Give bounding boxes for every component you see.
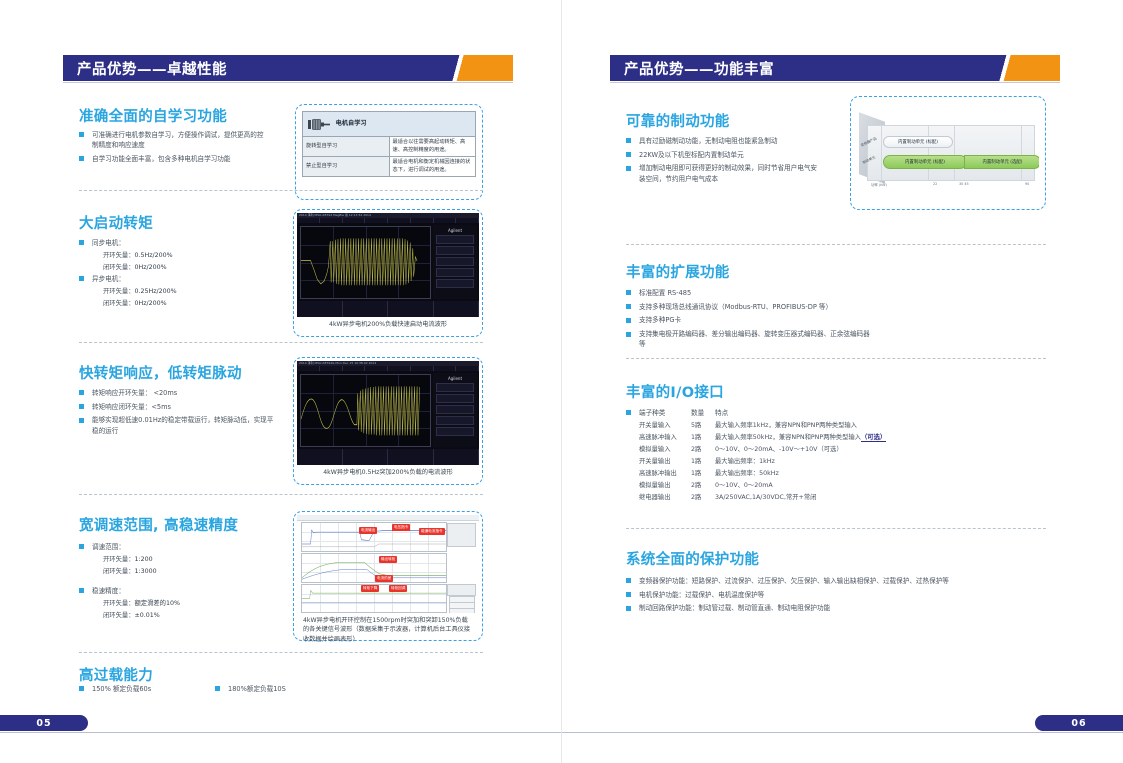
sub-label: 开环矢量：: [103, 252, 134, 259]
list-item: 支持集电极开路编码器、差分输出编码器、旋转变压器式编码器、正余弦编码器等: [626, 329, 876, 349]
table-row: 继电器输出2路3A/250VAC,1A/30VDC,常开+常闭: [639, 492, 969, 504]
figure-scope-2: 2014 泽利 MSO-X8794G Mon Dec 15 10:38:02 2…: [293, 357, 483, 485]
sub-async-open: 开环矢量：0.25Hz/200%: [79, 286, 177, 297]
sub-label: 开环矢量：: [103, 556, 134, 563]
scope-trace-2: [301, 375, 430, 446]
acq-button-3[interactable]: [449, 608, 475, 613]
brake-x-tick-22: 22: [933, 182, 937, 186]
figure-scope-1: 2014 泽利 MSO-X8794 MegBw 用 12:13:52 2014 …: [293, 209, 483, 337]
motor-row-value: 最适合以往需要高起动转矩、高速、高控制精度的用途。: [389, 137, 476, 157]
heading-io: 丰富的I/O接口: [626, 381, 724, 402]
left-banner: 产品优势——卓越性能: [63, 55, 513, 81]
scope-grid-2: [300, 374, 431, 447]
heading-torque-response: 快转矩响应，低转矩脉动: [79, 362, 242, 383]
right-banner-slash: [982, 55, 1028, 81]
io-type: 高速脉冲输入: [639, 432, 691, 444]
figure-brake-diagram: 变频器产品 制动单元 内置制动单元 (标配) 内置制动单元 (标配) 内置制动单…: [850, 96, 1046, 210]
left-banner-underline: [63, 82, 513, 83]
left-footer-line: [0, 732, 561, 733]
table-row: 模拟量输入2路0～10V、0～20mA、-10V～+10V（可选）: [639, 444, 969, 456]
io-col-qty: 数量: [691, 408, 715, 418]
bullets-overload-1: 150% 额定负载60s: [79, 684, 209, 698]
scope-side-panel-1: Agilent: [433, 225, 477, 299]
agilent-logo: Agilent: [433, 225, 477, 233]
acq-toolbar: [297, 515, 479, 521]
scope-side-panel-2: Agilent: [433, 373, 477, 447]
io-col-note: 特点: [715, 409, 728, 417]
motor-self-learning-table: 电机自学习 旋转型自学习 最适合以往需要高起动转矩、高速、高控制精度的用途。 禁…: [302, 111, 476, 177]
brake-x-label-power: 功率 (kW): [871, 182, 887, 187]
io-qty: 1路: [691, 468, 715, 480]
divider: [626, 358, 1046, 359]
divider: [79, 652, 483, 653]
io-qty: 1路: [691, 456, 715, 468]
scope-menubar: [297, 218, 479, 223]
scope-bottombar-1: [297, 301, 479, 317]
sub-value: 0Hz/200%: [134, 300, 166, 307]
scope-menubar: [297, 366, 479, 371]
divider: [79, 494, 483, 495]
oscilloscope-screen-2: 2014 泽利 MSO-X8794G Mon Dec 15 10:38:02 2…: [297, 361, 479, 465]
io-note: 0～10V、0～20mA、-10V～+10V（可选）: [715, 446, 843, 453]
agilent-logo: Agilent: [433, 373, 477, 381]
list-item: 电机保护功能：过载保护、电机温度保护等: [626, 590, 1026, 600]
divider: [79, 190, 483, 191]
right-banner-orange: [1028, 55, 1060, 81]
figure-acquisition-chart: 电流输出 电压指令 磁通电流指令 输出转矩 电流的差 转矩下降 转矩回调 4kW…: [293, 511, 483, 641]
list-item: 转矩响应开环矢量： <20ms: [79, 388, 274, 398]
list-item: 180%额定负载10S: [215, 684, 355, 694]
motor-table-header: 电机自学习: [303, 112, 476, 137]
io-note: 最大输出频率：1kHz: [715, 458, 775, 465]
io-type: 模拟量输出: [639, 480, 691, 492]
page-number-left: 05: [0, 715, 88, 731]
brake-bar-standard-small: 内置制动单元 (标配): [883, 136, 953, 148]
scope-trace-1: [301, 227, 430, 298]
io-note: 3A/250VAC,1A/30VDC,常开+常闭: [715, 494, 816, 501]
heading-expansion: 丰富的扩展功能: [626, 261, 730, 282]
table-row: 开关量输入5路最大输入频率1kHz，兼容NPN和PNP两种类型输入: [639, 420, 969, 432]
sub-label: 闭环矢量：: [103, 612, 134, 619]
scope-bottombar-2: [297, 449, 479, 465]
page-number-right: 06: [1035, 715, 1123, 731]
table-row: 旋转型自学习 最适合以往需要高起动转矩、高速、高控制精度的用途。: [303, 137, 476, 157]
bullets-self-learning: 可准确进行电机参数自学习，方便操作调试，提供更高的控制精度和响应速度 自学习功能…: [79, 130, 269, 168]
sub-label: 开环矢量：: [103, 288, 134, 295]
table-row: 高速脉冲输入1路最大输入频率50kHz，兼容NPN和PNP两种类型输入（可选）: [639, 432, 969, 444]
sub-value: 1:3000: [134, 568, 156, 575]
io-qty: 2路: [691, 444, 715, 456]
io-type: 开关量输出: [639, 456, 691, 468]
acq-sidebox: [447, 523, 476, 547]
sub-sync-closed: 闭环矢量：0Hz/200%: [79, 262, 167, 273]
heading-braking: 可靠的制动功能: [626, 110, 730, 131]
right-footer-line: [562, 732, 1123, 733]
annotation-output-torque: 输出转矩: [379, 556, 397, 563]
io-note: 最大输出频率：50kHz: [715, 470, 779, 477]
left-banner-orange: [481, 55, 513, 81]
io-note: 最大输入频率1kHz，兼容NPN和PNP两种类型输入: [715, 422, 857, 429]
bullets-torque-response: 转矩响应开环矢量： <20ms 转矩响应闭环矢量：<5ms 能够实现超低速0.0…: [79, 388, 274, 439]
io-qty: 5路: [691, 420, 715, 432]
brake-bar-optional: 内置制动单元 (选配): [964, 155, 1039, 169]
motor-row-label: 禁止型自学习: [303, 157, 390, 177]
io-type: 模拟量输入: [639, 444, 691, 456]
sub-value: 额定滑差的10%: [134, 600, 179, 607]
bullets-overload-2: 180%额定负载10S: [215, 684, 355, 698]
annotation-torque-recover: 转矩回调: [389, 585, 407, 592]
bullets-braking: 具有过励磁制动功能，无制动电阻也能紧急制动 22KW及以下机型标配内置制动单元 …: [626, 136, 818, 187]
list-item: 同步电机：: [79, 238, 279, 248]
table-row: 开关量输出1路最大输出频率：1kHz: [639, 456, 969, 468]
list-item: 支持多种现场总线通讯协议（Modbus-RTU、PROFIBUS-DP 等）: [626, 302, 876, 312]
sub-sync-open: 开环矢量：0.5Hz/200%: [79, 250, 173, 261]
divider: [79, 342, 483, 343]
sub-value: 1:200: [134, 556, 152, 563]
figure-motor-self-learning: 电机自学习 旋转型自学习 最适合以往需要高起动转矩、高速、高控制精度的用途。 禁…: [295, 104, 483, 200]
caption-scope-1: 4kW异步电机200%负载快速启动电流波形: [297, 317, 479, 329]
io-qty: 2路: [691, 492, 715, 504]
table-row: 禁止型自学习 最适合电机和衡定机械因连接的状态下，进行调试的用途。: [303, 157, 476, 177]
io-type: 开关量输入: [639, 420, 691, 432]
scope-grid-1: [300, 226, 431, 299]
table-row: 模拟量输出2路0～10V、0～20mA: [639, 480, 969, 492]
annotation-voltage-command: 电压指令: [392, 524, 410, 531]
list-item: 可准确进行电机参数自学习，方便操作调试，提供更高的控制精度和响应速度: [79, 130, 269, 150]
oscilloscope-screen-1: 2014 泽利 MSO-X8794 MegBw 用 12:13:52 2014 …: [297, 213, 479, 317]
sub-value: ±0.01%: [134, 612, 159, 619]
io-note-emph: （可选）: [861, 434, 886, 442]
right-banner: 产品优势——功能丰富: [610, 55, 1060, 81]
caption-acquisition-chart: 4kW异步电机开环控制在1500rpm时突加和突卸150%负载的各关键信号波形（…: [297, 613, 479, 644]
annotation-torque-drop: 转矩下降: [361, 585, 379, 592]
sub-async-closed: 闭环矢量：0Hz/200%: [79, 298, 167, 309]
right-page: 产品优势——功能丰富 可靠的制动功能 具有过励磁制动功能，无制动电阻也能紧急制动…: [562, 0, 1123, 763]
sub-value: 0Hz/200%: [134, 264, 166, 271]
heading-overload: 高过载能力: [79, 664, 153, 685]
sub-label: 闭环矢量：: [103, 300, 134, 307]
annotation-current-output: 电流输出: [359, 527, 377, 534]
sub-range-open: 开环矢量：1:200: [79, 554, 153, 565]
list-item: 异步电机：: [79, 274, 279, 284]
bullets-protection: 变频器保护功能：短路保护、过流保护、过压保护、欠压保护、输入输出缺相保护、过载保…: [626, 576, 1026, 617]
list-item: 支持多种PG卡: [626, 315, 876, 325]
brake-diagram-floor: [867, 125, 1035, 181]
right-banner-title: 产品优势——功能丰富: [610, 58, 774, 79]
sub-value: 0.25Hz/200%: [134, 288, 176, 295]
brake-x-tick-3045: 30 45: [959, 182, 969, 186]
heading-starting-torque: 大启动转矩: [79, 212, 153, 233]
motor-row-label: 旋转型自学习: [303, 137, 390, 157]
list-item: 变频器保护功能：短路保护、过流保护、过压保护、欠压保护、输入输出缺相保护、过载保…: [626, 576, 1026, 586]
brake-x-tick-90: 90: [1025, 182, 1029, 186]
left-page: 产品优势——卓越性能 准确全面的自学习功能 可准确进行电机参数自学习，方便操作调…: [0, 0, 562, 763]
list-item: 150% 额定负载60s: [79, 684, 209, 694]
bullets-expansion: 标准配置 RS-485 支持多种现场总线通讯协议（Modbus-RTU、PROF…: [626, 288, 876, 353]
acq-pane-2: [301, 553, 447, 583]
list-item: 能够实现超低速0.01Hz的稳定带载运行，转矩脉动低，实现平稳的运行: [79, 415, 274, 435]
list-item: 自学习功能全面丰富，包含多种电机自学习功能: [79, 154, 269, 164]
list-item: 22KW及以下机型标配内置制动单元: [626, 150, 818, 160]
sub-label: 闭环矢量：: [103, 264, 134, 271]
sub-range-closed: 闭环矢量：1:3000: [79, 566, 157, 577]
right-banner-underline: [610, 82, 1060, 83]
annotation-flux-current-command: 磁通电流指令: [419, 528, 445, 535]
annotation-current-diff: 电流的差: [375, 575, 393, 582]
heading-protection: 系统全面的保护功能: [626, 548, 759, 569]
sub-accuracy-open: 开环矢量：额定滑差的10%: [79, 598, 180, 609]
list-item: 转矩响应闭环矢量：<5ms: [79, 402, 274, 412]
list-item: 制动回路保护功能：制动管过载、制动管直通、制动电阻保护功能: [626, 603, 1026, 613]
left-banner-bar: 产品优势——卓越性能: [63, 55, 435, 81]
motor-icon: [308, 119, 330, 130]
io-type: 继电器输出: [639, 492, 691, 504]
right-banner-bar: 产品优势——功能丰富: [610, 55, 982, 81]
list-item: 端子种类数量特点: [626, 408, 926, 418]
io-table-body: 开关量输入5路最大输入频率1kHz，兼容NPN和PNP两种类型输入 高速脉冲输入…: [639, 420, 969, 504]
caption-scope-2: 4kW异步电机0.5Hz突加200%负载的电流波形: [297, 465, 479, 477]
acquisition-chart: 电流输出 电压指令 磁通电流指令 输出转矩 电流的差 转矩下降 转矩回调: [297, 515, 479, 613]
brake-diagram: 变频器产品 制动单元 内置制动单元 (标配) 内置制动单元 (标配) 内置制动单…: [857, 103, 1039, 203]
heading-speed-range: 宽调速范围, 高稳速精度: [79, 514, 238, 535]
left-banner-title: 产品优势——卓越性能: [63, 58, 227, 79]
motor-row-value: 最适合电机和衡定机械因连接的状态下，进行调试的用途。: [389, 157, 476, 177]
io-qty: 1路: [691, 432, 715, 444]
divider: [626, 244, 1046, 245]
sub-label: 开环矢量：: [103, 600, 134, 607]
io-note: 0～10V、0～20mA: [715, 482, 773, 489]
table-row: 高速脉冲输出1路最大输出频率：50kHz: [639, 468, 969, 480]
io-note: 最大输入频率50kHz，兼容NPN和PNP两种类型输入: [715, 434, 861, 441]
sub-label: 闭环矢量：: [103, 568, 134, 575]
list-item: 标准配置 RS-485: [626, 288, 876, 298]
brake-bar-standard: 内置制动单元 (标配): [883, 155, 967, 169]
divider: [626, 528, 1046, 529]
io-qty: 2路: [691, 480, 715, 492]
io-type: 高速脉冲输出: [639, 468, 691, 480]
list-item: 稳速精度：: [79, 586, 269, 596]
list-item: 具有过励磁制动功能，无制动电阻也能紧急制动: [626, 136, 818, 146]
list-item: 增加制动电阻即可获得更好的制动效果，同时节省用户电气安装空间，节约用户电气成本: [626, 163, 818, 183]
heading-self-learning: 准确全面的自学习功能: [79, 105, 227, 126]
acq-sidebox-2: [447, 584, 476, 596]
sub-value: 0.5Hz/200%: [134, 252, 172, 259]
acq-trace-2: [302, 554, 446, 582]
sub-accuracy-closed: 闭环矢量：±0.01%: [79, 610, 160, 621]
motor-table-header-label: 电机自学习: [336, 120, 367, 127]
list-item: 调速范围：: [79, 542, 269, 552]
io-col-type: 端子种类: [639, 408, 691, 418]
left-banner-slash: [435, 55, 481, 81]
